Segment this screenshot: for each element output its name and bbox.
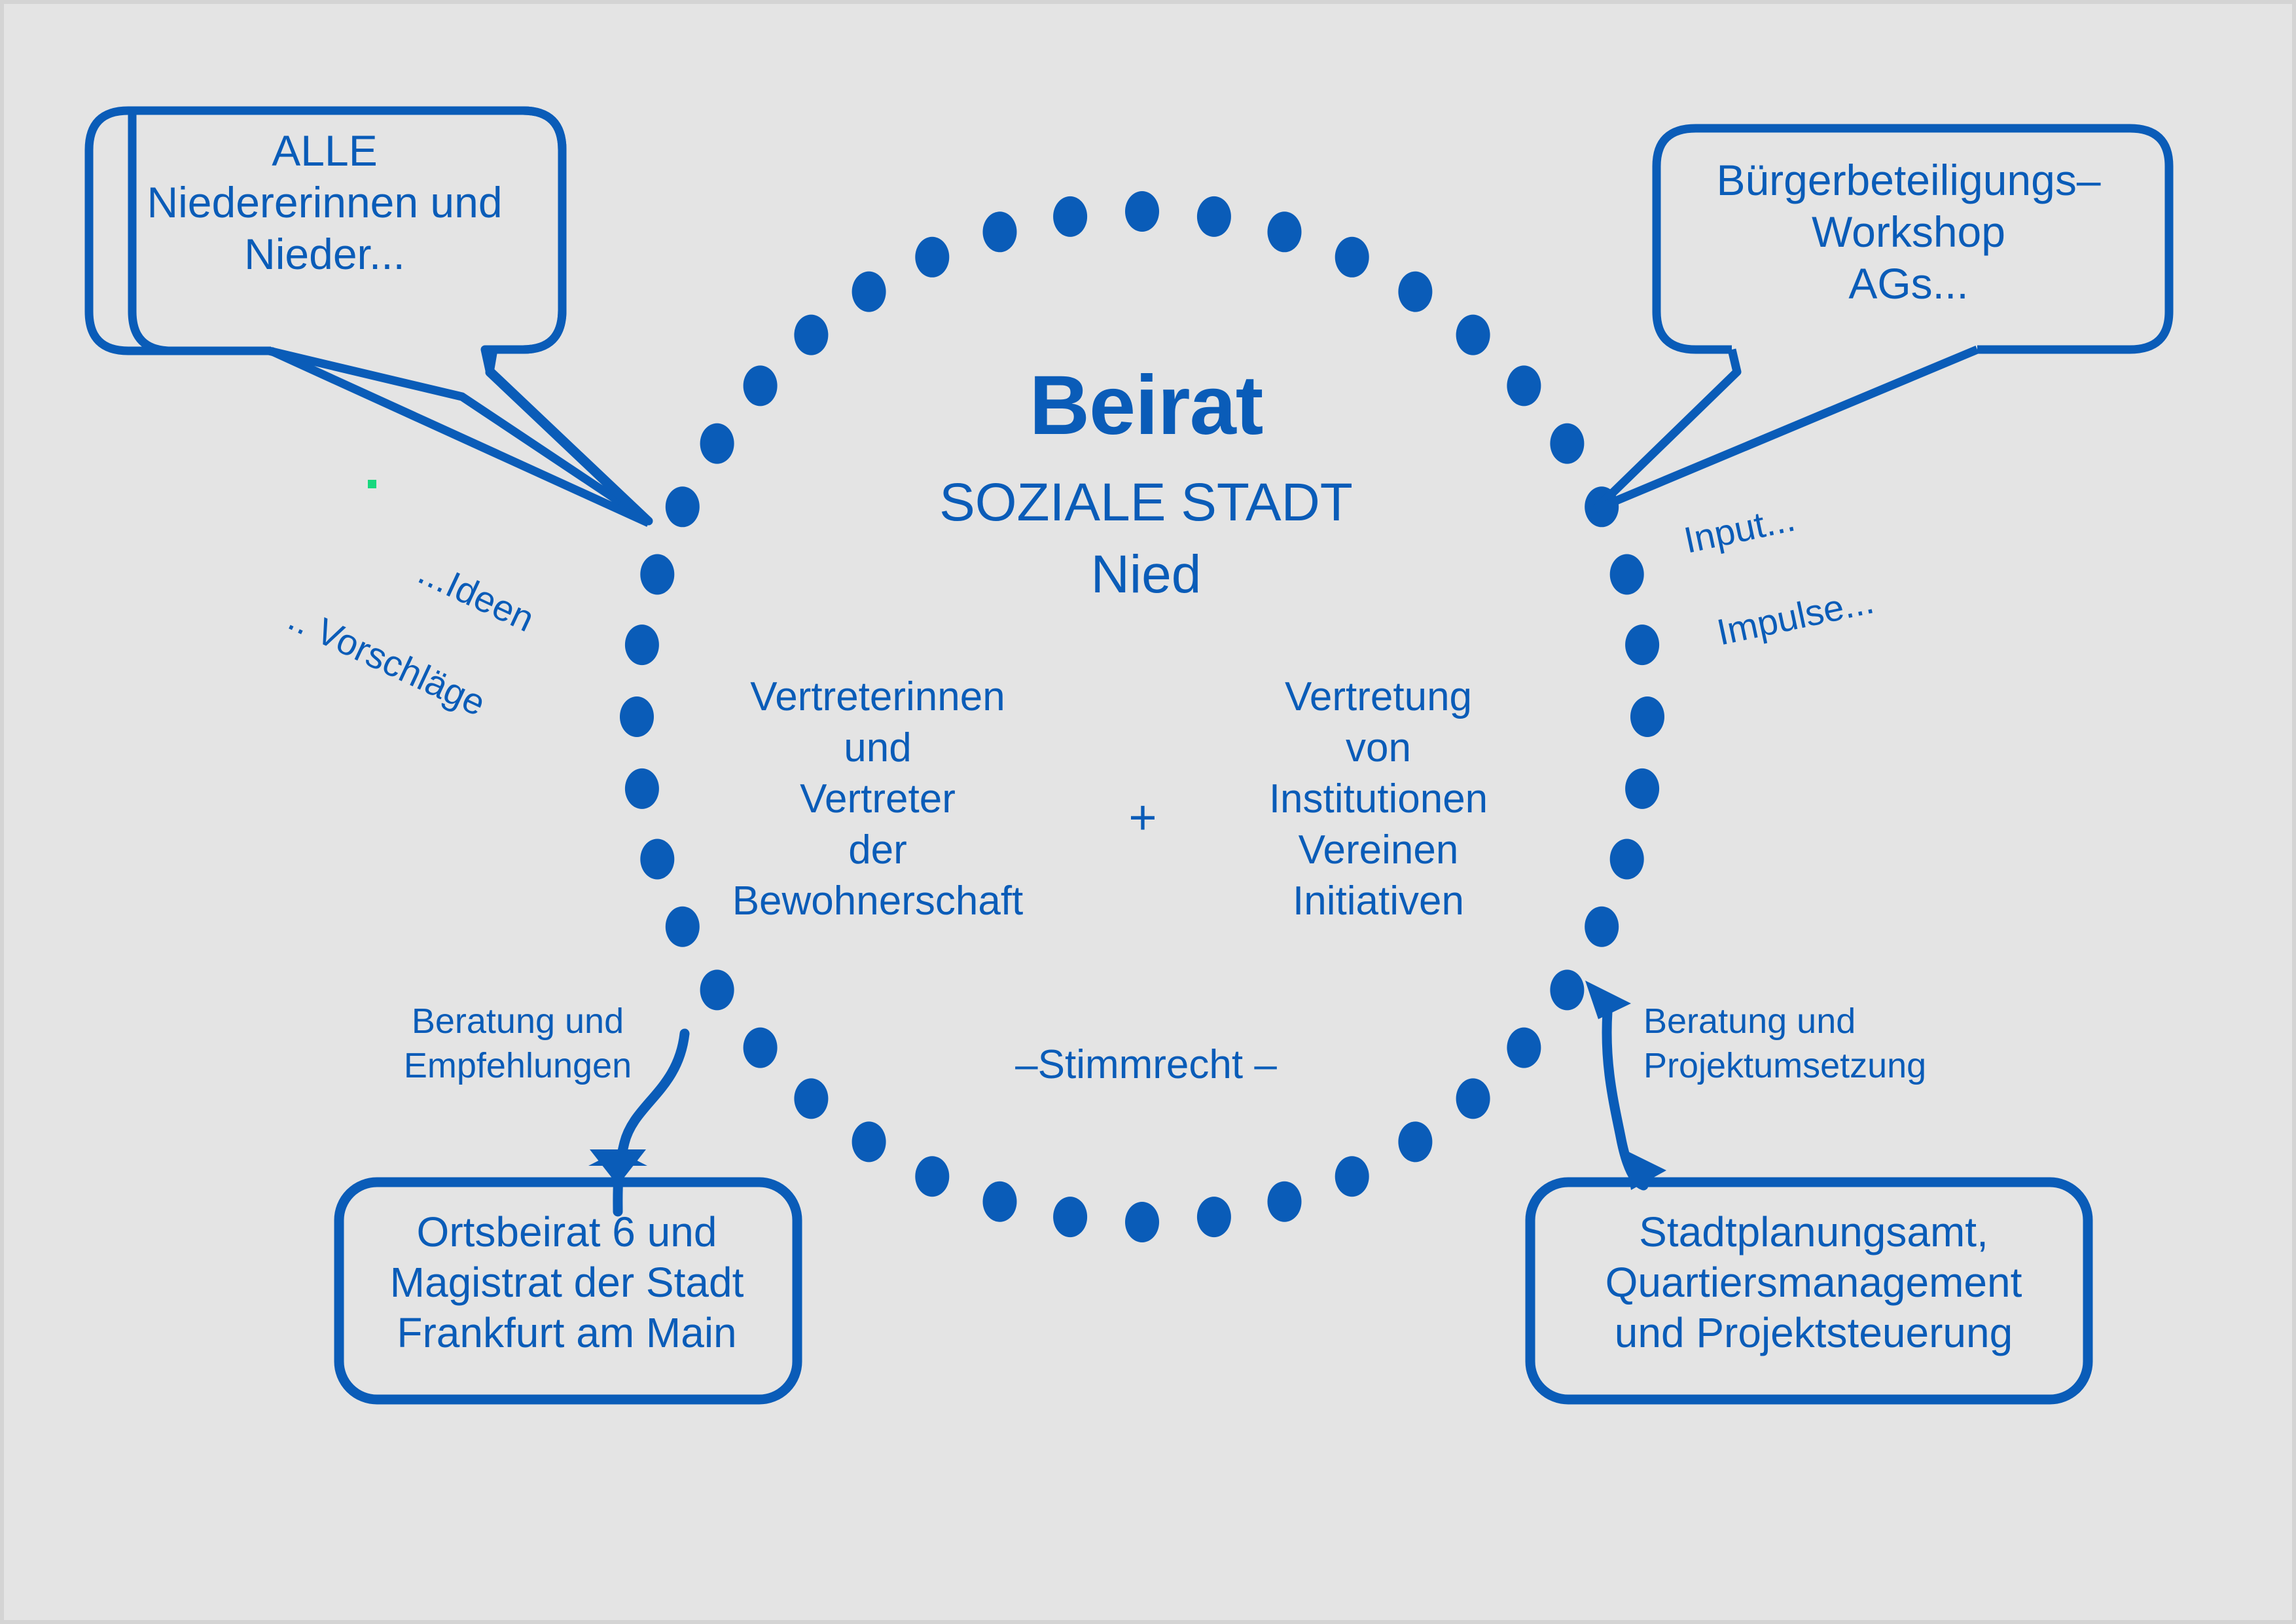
ring-dot (1630, 696, 1664, 737)
ring-dot (1456, 315, 1490, 355)
ring-dot (744, 365, 778, 406)
ring-dot (852, 272, 886, 312)
ring-dot (1197, 1197, 1231, 1237)
plus-symbol: + (1077, 789, 1208, 845)
ring-dot (666, 486, 700, 527)
ring-dot (1053, 1197, 1087, 1237)
ring-dot (1197, 196, 1231, 237)
caption-beratung-empfehlungen: Beratung und Empfehlungen (380, 999, 655, 1088)
ring-dot (1053, 196, 1087, 237)
ring-dot (1610, 839, 1644, 880)
ring-dot (744, 1028, 778, 1068)
subtitle: SOZIALE STADT (819, 472, 1473, 533)
box-ortsbeirat-label: Ortsbeirat 6 und Magistrat der Stadt Fra… (338, 1207, 796, 1358)
ring-dot (915, 237, 949, 278)
ring-dot (1625, 624, 1659, 665)
ring-dot (794, 1078, 828, 1119)
ring-dot (1335, 237, 1369, 278)
ring-dot (1610, 554, 1644, 595)
ring-dot (1268, 1182, 1302, 1222)
ring-dot (700, 424, 734, 464)
ring-dot (1550, 424, 1584, 464)
voting-note: –Stimmrecht – (884, 1041, 1408, 1088)
ring-dot (1398, 272, 1432, 312)
ring-dot (1507, 365, 1541, 406)
ring-dot (1125, 191, 1159, 232)
ring-dot (852, 1121, 886, 1162)
diagram-canvas: ALLE Niedererinnen und Nieder... Bürgerb… (4, 4, 2292, 1620)
label-input-line1: Input... (1679, 455, 1984, 565)
column-institutions: Vertretung von Institutionen Vereinen In… (1215, 672, 1542, 928)
ring-dot (983, 211, 1017, 252)
ring-dot (1335, 1156, 1369, 1197)
ring-dot (640, 839, 674, 880)
ring-dot (700, 969, 734, 1010)
ring-dot (794, 315, 828, 355)
ring-dot (1550, 969, 1584, 1010)
ring-dot (983, 1182, 1017, 1222)
ring-dot (915, 1156, 949, 1197)
ring-dot (1585, 907, 1619, 947)
ring-dot (1625, 768, 1659, 809)
column-residents: Vertreterinnen und Vertreter der Bewohne… (694, 672, 1061, 928)
ring-dot (1507, 1028, 1541, 1068)
ring-dot (1125, 1202, 1159, 1242)
ring-dot (640, 554, 674, 595)
ring-dot (625, 768, 659, 809)
caption-beratung-projektumsetzung: Beratung und Projektumsetzung (1643, 999, 1984, 1088)
label-input-line2: Impulse... (1713, 549, 2005, 657)
ring-dot (1398, 1121, 1432, 1162)
bubble-buergerbeteiligung-label: Bürgerbeteiligungs– Workshop AGs... (1679, 154, 2138, 310)
box-stadtplanungsamt-label: Stadtplanungsamt, Quartiersmanagement un… (1539, 1207, 2089, 1358)
ring-dot (1456, 1078, 1490, 1119)
ring-dot (1268, 211, 1302, 252)
bubble-alle-niedererinnen-label: ALLE Niedererinnen und Nieder... (96, 125, 554, 281)
page-title: Beirat (819, 357, 1473, 454)
place-name: Nied (819, 544, 1473, 605)
